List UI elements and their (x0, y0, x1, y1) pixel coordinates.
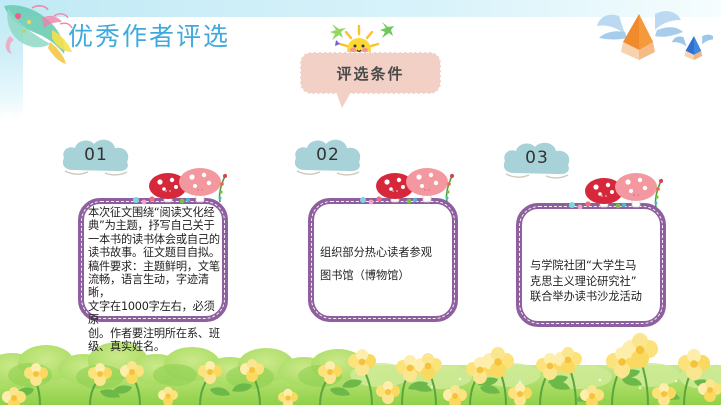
cloud-badge-01: 01 (59, 136, 133, 176)
mushroom-cluster-icon-2 (355, 158, 465, 215)
criteria-text-03-line-3: 联合举办读书沙龙活动 (530, 289, 662, 305)
criteria-bubble-label: 评选条件 (336, 63, 404, 84)
criteria-text-02-line-2: 图书馆（博物馆） (320, 264, 450, 287)
cloud-badge-01-number: 01 (59, 136, 133, 176)
criteria-text-02-line-1: 组织部分热心读者参观 (320, 241, 450, 264)
page-title: 优秀作者评选 (68, 17, 230, 53)
mushroom-cluster-icon (128, 158, 238, 215)
criteria-text-01-line-5: 稿件要求：主题鲜明，文笔 (88, 260, 222, 273)
slide-canvas: 优秀作者评选 (0, 0, 721, 405)
criteria-text-03: 与学院社团“大学生马 克思主义理论研究社” 联合举办读书沙龙活动 (530, 258, 662, 305)
criteria-bubble: 评选条件 (300, 52, 441, 94)
criteria-text-01-line-2: 典”为主题，抒写自己关于 (88, 219, 222, 232)
bubble-tail (336, 92, 351, 108)
criteria-text-01-line-4: 读书故事。征文题目自拟。 (88, 246, 222, 259)
cloud-badge-02: 02 (291, 136, 365, 176)
criteria-text-03-line-1: 与学院社团“大学生马 (530, 258, 662, 274)
winged-book-icon (595, 6, 713, 73)
criteria-text-02: 组织部分热心读者参观 图书馆（博物馆） (320, 241, 450, 287)
criteria-text-01-line-7: 文字在1000字左右，必须原 (88, 300, 222, 327)
criteria-text-01-line-9: 级、真实姓名。 (88, 340, 222, 353)
cloud-badge-03-number: 03 (500, 139, 574, 179)
criteria-banner: 评选条件 (300, 18, 450, 104)
mushroom-cluster-icon-3 (564, 163, 674, 220)
criteria-text-01-line-8: 创。作者要注明所在系、班 (88, 327, 222, 340)
criteria-text-01-line-3: 一本书的读书体会或自己的 (88, 233, 222, 246)
bird-flourish-icon (0, 0, 76, 77)
criteria-text-01: 本次征文围绕“阅读文化经 典”为主题，抒写自己关于 一本书的读书体会或自己的 读… (88, 206, 222, 353)
criteria-text-01-line-6: 流畅，语言生动，字迹清晰， (88, 273, 222, 300)
cloud-badge-03: 03 (500, 139, 574, 179)
cloud-badge-02-number: 02 (291, 136, 365, 176)
criteria-text-03-line-2: 克思主义理论研究社” (530, 274, 662, 290)
